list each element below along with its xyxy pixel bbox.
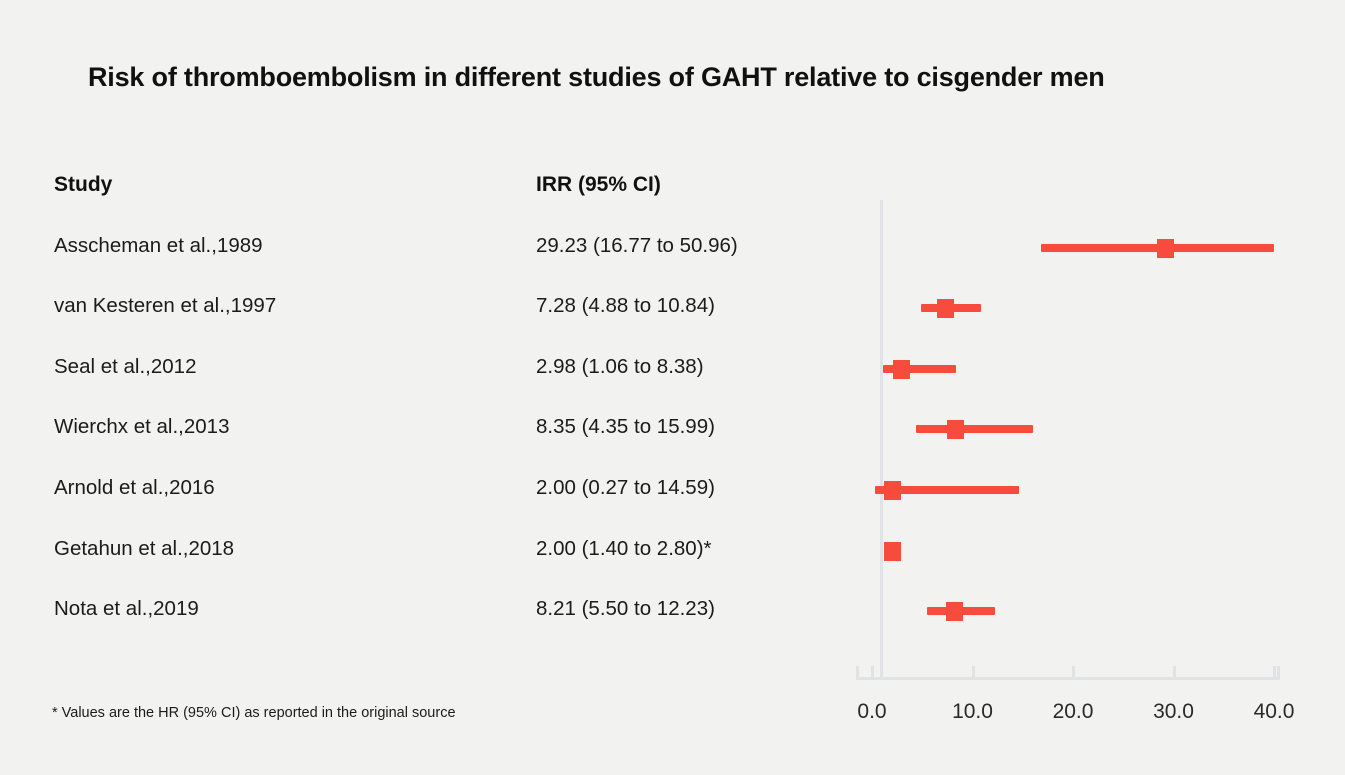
x-axis-tick-mark xyxy=(1273,666,1276,680)
point-estimate-marker xyxy=(946,602,963,621)
point-estimate-marker xyxy=(947,420,964,439)
forest-row xyxy=(0,475,1345,505)
confidence-interval-bar xyxy=(916,425,1033,433)
x-axis-line xyxy=(856,677,1280,680)
x-axis-tick-label: 20.0 xyxy=(1053,700,1094,724)
x-axis-cap-right xyxy=(1277,666,1280,680)
forest-row xyxy=(0,354,1345,384)
x-axis-tick-label: 30.0 xyxy=(1153,700,1194,724)
x-axis-cap-left xyxy=(856,666,859,680)
point-estimate-marker xyxy=(937,299,954,318)
x-axis-tick-mark xyxy=(1173,666,1176,680)
x-axis-tick-mark xyxy=(972,666,975,680)
x-axis-tick-mark xyxy=(1072,666,1075,680)
forest-row xyxy=(0,596,1345,626)
x-axis-tick-label: 40.0 xyxy=(1254,700,1295,724)
x-axis-tick-label: 10.0 xyxy=(952,700,993,724)
forest-row xyxy=(0,414,1345,444)
x-axis-tick-mark xyxy=(871,666,874,680)
point-estimate-marker xyxy=(884,481,901,500)
forest-row xyxy=(0,293,1345,323)
forest-plot-panel: 0.010.020.030.040.0 xyxy=(0,0,1345,775)
point-estimate-marker xyxy=(884,542,901,561)
point-estimate-marker xyxy=(1157,239,1174,258)
forest-row xyxy=(0,536,1345,566)
point-estimate-marker xyxy=(893,360,910,379)
x-axis-tick-label: 0.0 xyxy=(857,700,886,724)
forest-plot-figure: Risk of thromboembolism in different stu… xyxy=(0,0,1345,775)
forest-row xyxy=(0,233,1345,263)
